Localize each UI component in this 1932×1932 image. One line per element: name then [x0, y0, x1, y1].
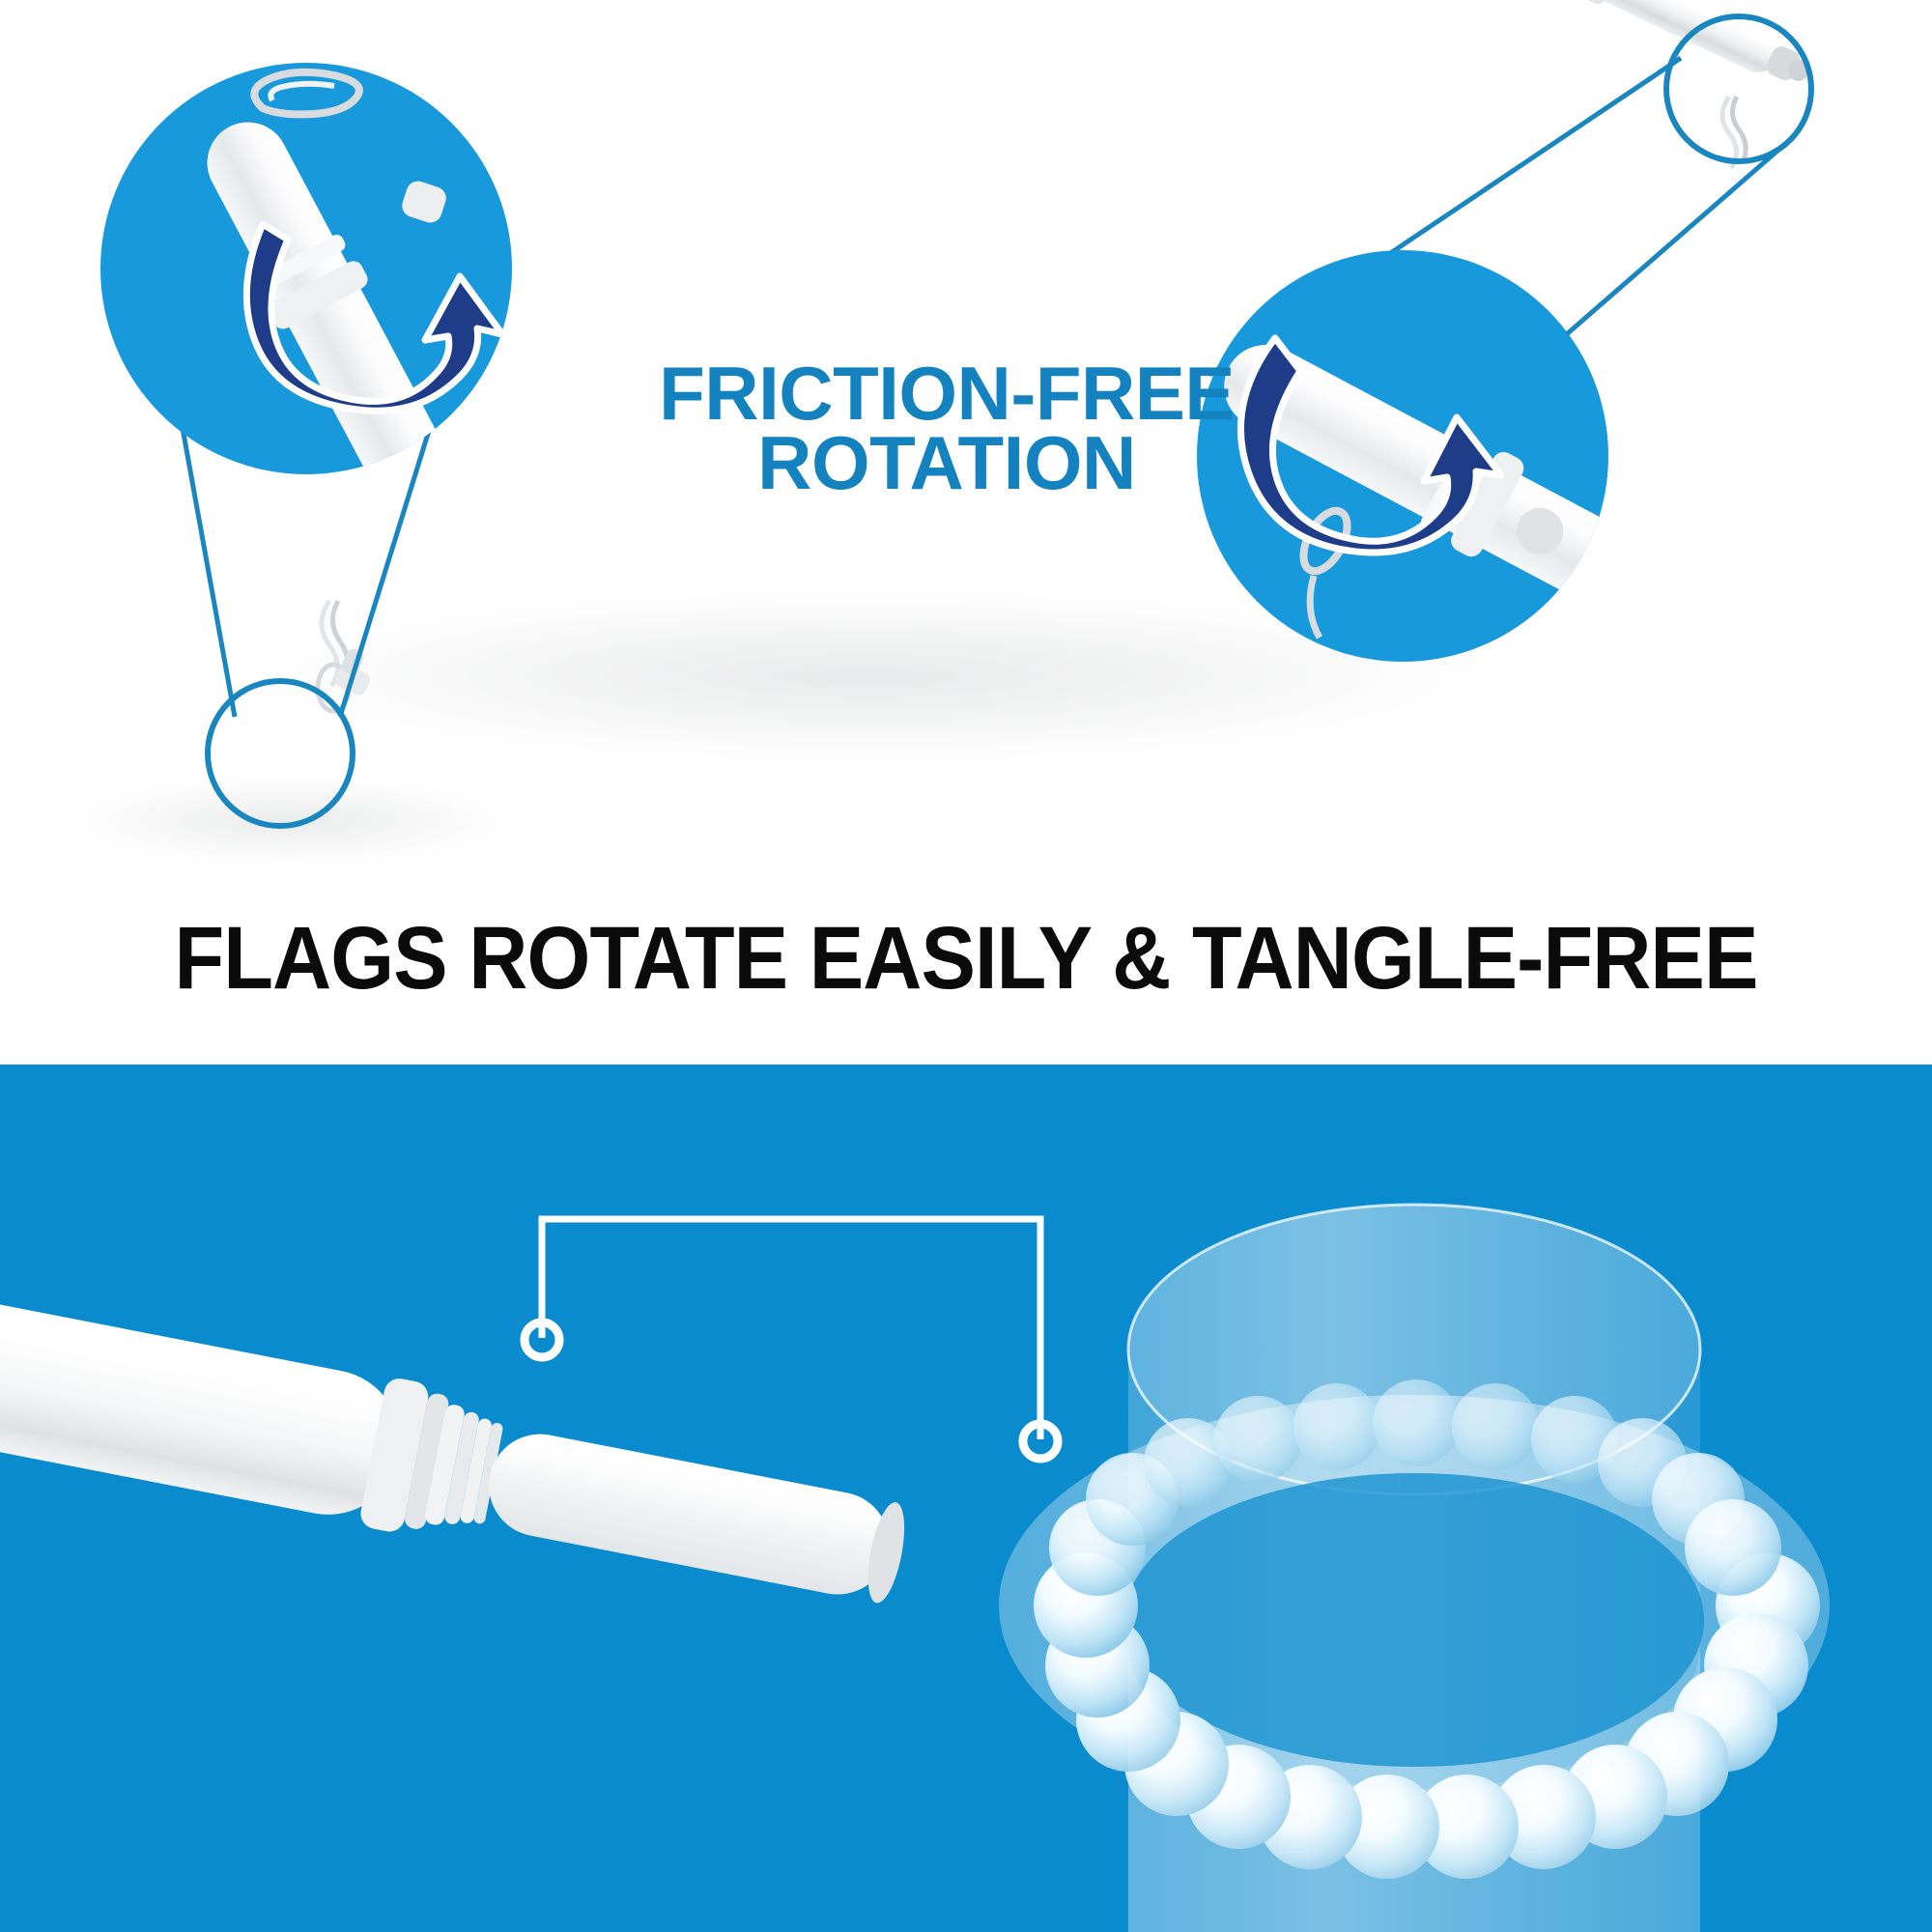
upper-clip-rotation-inset — [100, 63, 512, 519]
feature-heading-line2: ROTATION — [638, 429, 1256, 498]
feature-heading-line1: FRICTION-FREE — [638, 359, 1256, 429]
page-title: FLAGS ROTATE EASILY & TANGLE-FREE — [77, 908, 1855, 1009]
callout-bracket — [542, 1219, 1040, 1439]
infographic-canvas: FRICTION-FREE ROTATION FLAGS ROTATE EASI… — [0, 0, 1932, 1932]
ball-bearing-ring-diagram — [999, 1205, 1830, 1932]
lower-ring-rotation-inset — [1197, 250, 1647, 662]
feature-heading: FRICTION-FREE ROTATION — [638, 359, 1256, 498]
bottom-blue-panel: BALL BEARINGS IN THE MOUNTING RINGS PROV… — [0, 1065, 1932, 1932]
telescoping-pole-joint — [0, 1264, 911, 1606]
main-flagpole — [667, 0, 1814, 89]
bearing-illustration — [0, 1065, 1932, 1932]
top-white-panel: FRICTION-FREE ROTATION — [0, 0, 1932, 1065]
top-illustration — [0, 0, 1932, 1065]
